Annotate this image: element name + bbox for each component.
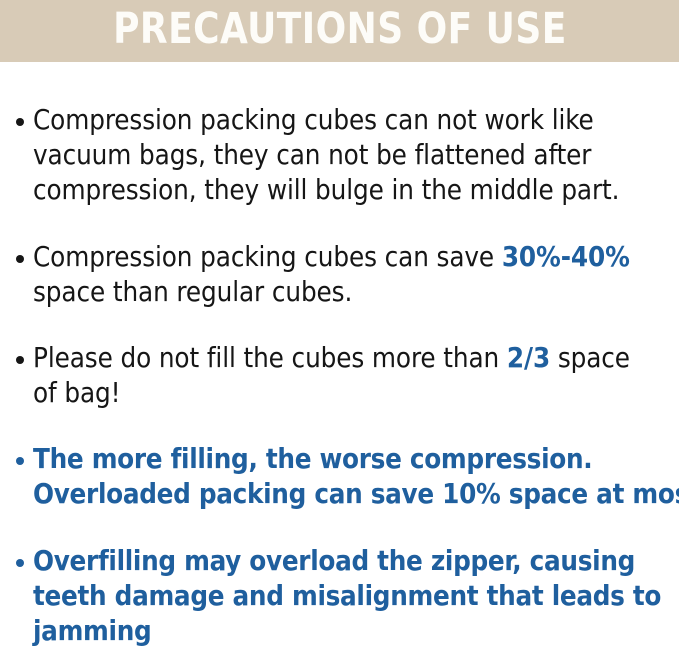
list-item-line: space than regular cubes.	[33, 275, 669, 310]
list-item: The more filling, the worse compression.…	[0, 442, 679, 512]
list-item-line: Overfilling may overload the zipper, cau…	[33, 544, 669, 579]
list-item-line: teeth damage and misalignment that leads…	[33, 579, 669, 614]
bullet-dot-icon	[16, 356, 24, 364]
list-item-line: vacuum bags, they can not be flattened a…	[33, 138, 669, 173]
list-item-line: of bag!	[33, 376, 669, 411]
precautions-list: Compression packing cubes can not work l…	[0, 62, 679, 649]
list-item-text: Compression packing cubes can save	[33, 241, 502, 273]
bullet-dot-icon	[16, 559, 24, 567]
list-item: Compression packing cubes can not work l…	[0, 103, 679, 208]
list-item-line: jamming	[33, 614, 669, 649]
highlight-value: 2/3	[507, 342, 550, 374]
bullet-dot-icon	[16, 255, 24, 263]
bullet-dot-icon	[16, 118, 24, 126]
list-item: Overfilling may overload the zipper, cau…	[0, 544, 679, 649]
page-title: PRECAUTIONS OF USE	[113, 8, 567, 54]
header-band: PRECAUTIONS OF USE	[0, 0, 679, 62]
list-item-text: space	[550, 342, 630, 374]
list-item-line: Compression packing cubes can save 30%-4…	[33, 240, 669, 275]
list-item: Compression packing cubes can save 30%-4…	[0, 240, 679, 310]
list-item: Please do not fill the cubes more than 2…	[0, 341, 679, 411]
bullet-dot-icon	[16, 457, 24, 465]
list-item-line: compression, they will bulge in the midd…	[33, 173, 669, 208]
list-item-line: Compression packing cubes can not work l…	[33, 103, 669, 138]
precautions-infographic: PRECAUTIONS OF USE Compression packing c…	[0, 0, 679, 645]
list-item-line: Please do not fill the cubes more than 2…	[33, 341, 669, 376]
highlight-value: 30%-40%	[502, 241, 630, 273]
list-item-line: The more filling, the worse compression.	[33, 442, 669, 477]
list-item-text: Please do not fill the cubes more than	[33, 342, 507, 374]
list-item-line: Overloaded packing can save 10% space at…	[33, 477, 669, 512]
